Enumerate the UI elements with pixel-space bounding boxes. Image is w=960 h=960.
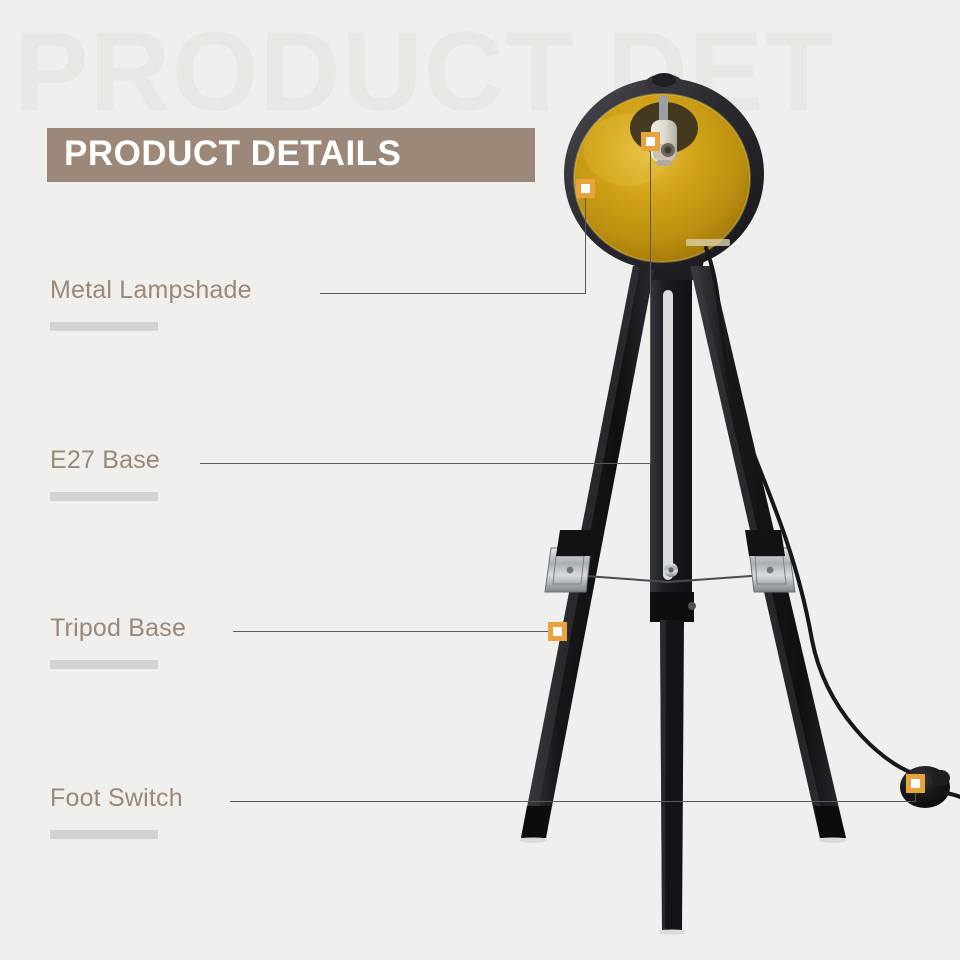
page-title-banner: PRODUCT DETAILS: [47, 128, 535, 182]
page-title: PRODUCT DETAILS: [64, 134, 401, 174]
callout-marker-metal-lampshade[interactable]: [576, 179, 595, 198]
callout-rule-tripod-base: [50, 660, 158, 669]
callout-rule-foot-switch: [50, 830, 158, 839]
product-details-infographic: PRODUCT DET: [0, 0, 960, 960]
callout-rule-metal-lampshade: [50, 322, 158, 331]
callout-label-tripod-base: Tripod Base: [50, 614, 186, 643]
callout-marker-foot-switch[interactable]: [906, 774, 925, 793]
leader-line-foot-switch-horizontal: [230, 801, 916, 802]
leader-line-foot-switch-vertical: [915, 792, 916, 802]
callout-label-foot-switch: Foot Switch: [50, 784, 183, 813]
leader-line-metal-lampshade-horizontal: [320, 293, 586, 294]
leader-line-tripod-base-horizontal: [233, 631, 558, 632]
callout-label-e27-base: E27 Base: [50, 446, 160, 475]
callout-marker-tripod-base[interactable]: [548, 622, 567, 641]
leader-line-e27-base-vertical: [650, 150, 651, 464]
leader-line-metal-lampshade-vertical: [585, 197, 586, 294]
callout-label-metal-lampshade: Metal Lampshade: [50, 276, 252, 305]
callout-rule-e27-base: [50, 492, 158, 501]
leader-line-e27-base-horizontal: [200, 463, 651, 464]
callout-marker-e27-base[interactable]: [641, 132, 660, 151]
